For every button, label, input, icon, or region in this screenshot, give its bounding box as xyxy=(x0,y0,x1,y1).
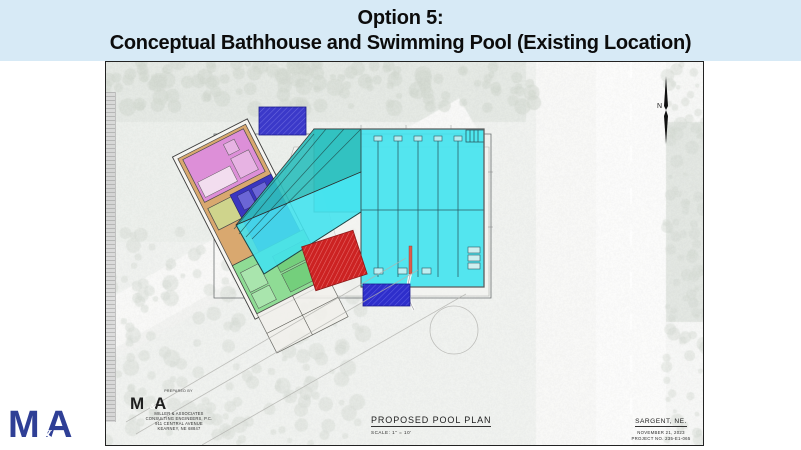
page-title-line1: Option 5: xyxy=(358,6,444,30)
project-location: SARGENT, NE. xyxy=(635,418,687,427)
sheet-title: PROPOSED POOL PLAN xyxy=(371,415,491,427)
feature-block-blue-south xyxy=(363,284,410,306)
titleblock-logo: M A & xyxy=(130,394,182,411)
firm-line-4: KEARNEY, NE 68847 xyxy=(120,426,238,431)
north-arrow-icon xyxy=(655,76,677,144)
project-info-block: SARGENT, NE. NOVEMBER 21, 2023 PROJECT N… xyxy=(618,410,704,441)
prepared-by-label: PREPARED BY xyxy=(126,389,231,393)
page-title-line2: Conceptual Bathhouse and Swimming Pool (… xyxy=(110,30,692,56)
north-arrow: N xyxy=(655,76,677,144)
scale-label: SCALE: 1" = 10' xyxy=(371,430,531,435)
company-logo: M A & xyxy=(9,404,87,444)
slide: Option 5: Conceptual Bathhouse and Swimm… xyxy=(0,0,801,450)
project-date: NOVEMBER 21, 2023 xyxy=(618,430,704,435)
drawing-sheet: PREPARED BY M A & MILLER & ASSOCIATES CO… xyxy=(105,61,704,446)
firm-address-block: MILLER & ASSOCIATES CONSULTING ENGINEERS… xyxy=(120,411,238,431)
svg-text:M: M xyxy=(130,394,144,411)
svg-text:M: M xyxy=(9,404,38,444)
project-number: PROJECT NO. 235-E1-065 xyxy=(618,436,704,441)
north-label: N xyxy=(657,103,662,110)
slide-header: Option 5: Conceptual Bathhouse and Swimm… xyxy=(0,0,801,61)
ma-logo-small-icon: M A & xyxy=(130,394,182,411)
site-plan-vector-layer xyxy=(106,62,703,445)
feature-block-upper-blue xyxy=(259,107,306,135)
ma-logo-icon: M A & xyxy=(9,404,87,444)
sheet-title-block: PROPOSED POOL PLAN SCALE: 1" = 10' xyxy=(371,410,531,435)
svg-text:&: & xyxy=(39,422,53,441)
svg-text:&: & xyxy=(150,402,157,411)
